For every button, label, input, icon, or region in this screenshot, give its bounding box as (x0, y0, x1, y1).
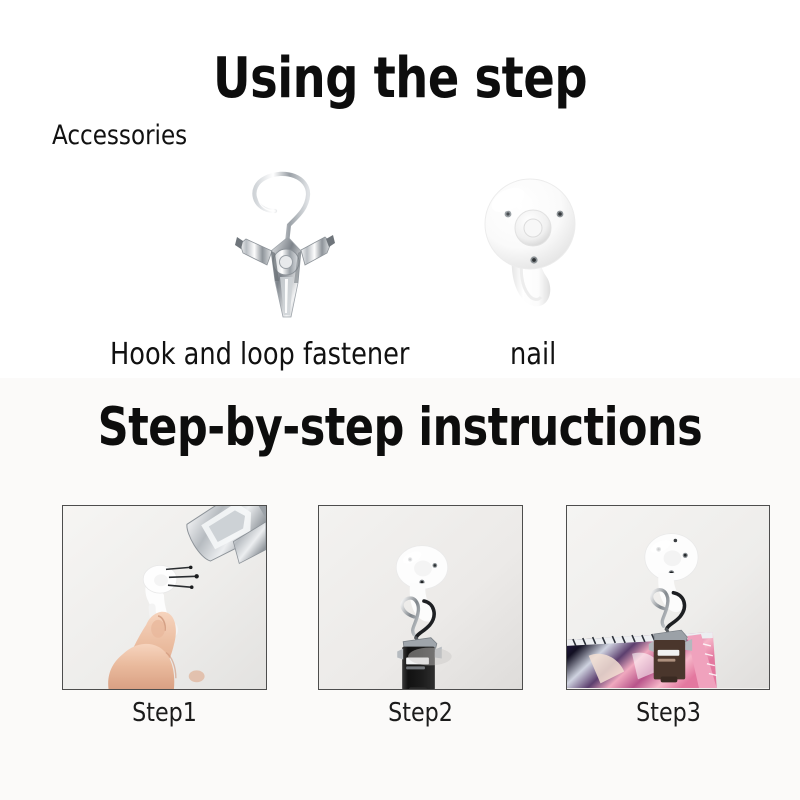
accessory-image-nail (468, 170, 596, 320)
page-title: Using the step (32, 48, 768, 110)
accessories-label: Accessories (52, 120, 187, 152)
mounted-hook-with-clip-photo (319, 506, 522, 689)
step-label: Step2 (323, 697, 518, 729)
step-card: Step1 (62, 505, 267, 690)
hand-pressing-hook-to-wall-with-hammer-photo (63, 506, 266, 689)
clip-holding-printed-banner-photo (567, 506, 769, 688)
poster-root: Using the step Accessories (0, 0, 800, 800)
step-photo-1 (62, 505, 267, 690)
step-label: Step3 (571, 697, 766, 729)
step-label: Step1 (67, 697, 262, 729)
steps-heading: Step-by-step instructions (40, 398, 760, 458)
step-photo-2 (318, 505, 523, 690)
white-wall-hook-icon (468, 170, 596, 320)
accessory-caption-nail: nail (510, 337, 556, 373)
step-photo-3 (566, 505, 770, 690)
accessory-image-hook-and-loop-fastener (205, 165, 375, 325)
accessories-section: Using the step Accessories (0, 0, 800, 378)
accessory-caption-hook-and-loop-fastener: Hook and loop fastener (110, 337, 409, 373)
step-card: Step3 (566, 505, 770, 690)
step-card: Step2 (318, 505, 523, 690)
metal-spring-clip-icon (205, 165, 375, 325)
